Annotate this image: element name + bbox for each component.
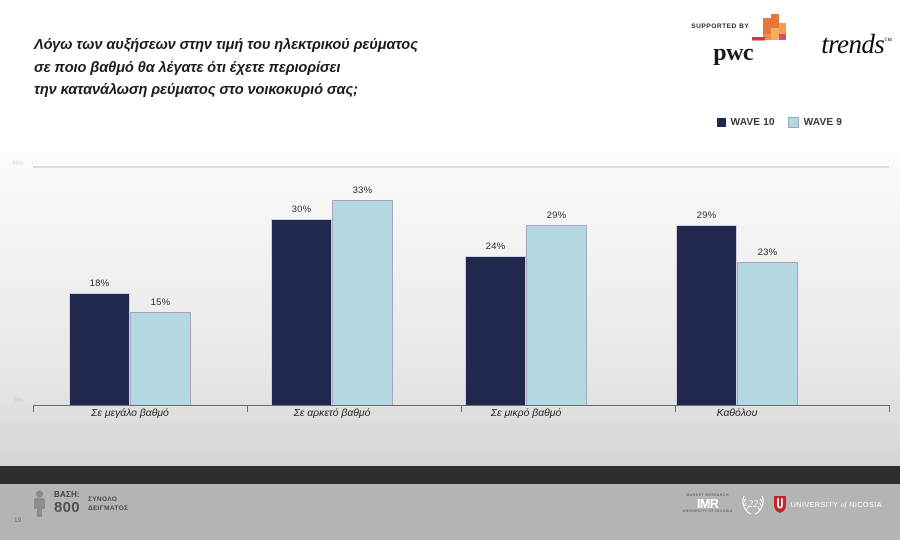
bar-column: 18% <box>69 157 130 405</box>
chart-legend: WAVE 10 WAVE 9 <box>717 117 842 128</box>
university-of-word: of <box>841 501 847 509</box>
bar-wave-10[interactable] <box>271 219 332 405</box>
svg-text:22: 22 <box>748 499 758 510</box>
base-text: ΒΑΣΗ: 800 ΣΥΝΟΛΟ ΔΕΙΓΜΑΤΟΣ <box>54 491 128 515</box>
university-of-nicosia-logo: UNIVERSITY of NICOSIA <box>774 496 882 513</box>
pwc-mark-icon <box>747 14 791 46</box>
chart-plot-area: 40% 0% 18%15%Σε μεγάλο βαθμό30%33%Σε αρκ… <box>0 152 900 466</box>
bar-column: 24% <box>465 157 526 405</box>
bar-group: 29%23%Καθόλου <box>676 157 798 405</box>
base-left: ΒΑΣΗ: 800 <box>54 491 80 515</box>
legend-item-wave-10[interactable]: WAVE 10 <box>717 117 775 128</box>
university-word: UNIVERSITY <box>790 500 838 509</box>
category-label: Σε μεγάλο βαθμό <box>69 408 191 419</box>
x-axis-tick <box>247 405 248 412</box>
y-axis-tick-zero: 0% <box>14 398 23 404</box>
bar-value-label: 18% <box>69 278 130 289</box>
base-value: 800 <box>54 500 80 516</box>
header-band: Λόγω των αυξήσεων στην τιμή του ηλεκτρικ… <box>0 0 900 152</box>
bar-groups: 18%15%Σε μεγάλο βαθμό30%33%Σε αρκετό βαθ… <box>33 157 889 405</box>
bar-wave-10[interactable] <box>69 293 130 405</box>
page-title: Λόγω των αυξήσεων στην τιμή του ηλεκτρικ… <box>34 34 634 102</box>
y-axis-tick-top: 40% <box>12 161 24 167</box>
page-number: 19 <box>14 517 21 524</box>
bar-column: 29% <box>526 157 587 405</box>
bar-column: 15% <box>130 157 191 405</box>
imr-bottom-text: UNIVERSITY OF NICOSIA <box>683 510 733 514</box>
trends-tm: ™ <box>884 36 892 45</box>
university-name: UNIVERSITY of NICOSIA <box>790 500 882 509</box>
bar-value-label: 29% <box>526 210 587 221</box>
person-icon <box>32 490 47 517</box>
brand-bar: SUPPORTED BY pwc trends™ <box>691 10 892 66</box>
title-line-1: Λόγω των αυξήσεων στην τιμή του ηλεκτρικ… <box>34 34 634 57</box>
bar-group: 30%33%Σε αρκετό βαθμό <box>271 157 393 405</box>
legend-swatch-wave-9 <box>788 117 799 128</box>
legend-swatch-wave-10 <box>717 118 726 127</box>
trends-text: trends <box>821 29 884 59</box>
title-line-3: την κατανάλωση ρεύματος στο νοικοκυριό σ… <box>34 79 634 102</box>
bar-group: 18%15%Σε μεγάλο βαθμό <box>69 157 191 405</box>
footer-logos: MARKET RESEARCH IMR UNIVERSITY OF NICOSI… <box>683 492 882 516</box>
bar-pair: 18%15% <box>69 157 191 405</box>
bar-column: 33% <box>332 157 393 405</box>
imr-logo: MARKET RESEARCH IMR UNIVERSITY OF NICOSI… <box>683 494 733 514</box>
supported-by-label: SUPPORTED BY <box>691 23 749 30</box>
bar-pair: 30%33% <box>271 157 393 405</box>
trends-wordmark: trends™ <box>821 29 892 60</box>
bar-wave-9[interactable] <box>130 312 191 405</box>
university-place-word: NICOSIA <box>849 500 882 509</box>
base-description-line-1: ΣΥΝΟΛΟ <box>88 495 128 505</box>
bar-value-label: 24% <box>465 241 526 252</box>
bar-group: 24%29%Σε μικρό βαθμό <box>465 157 587 405</box>
anniversary-badge-icon: 22 <box>739 492 767 516</box>
bar-wave-10[interactable] <box>676 225 737 405</box>
legend-label-wave-9: WAVE 9 <box>804 117 842 128</box>
bar-value-label: 29% <box>676 210 737 221</box>
x-axis-tick <box>33 405 34 412</box>
shield-icon <box>774 496 786 513</box>
bar-column: 23% <box>737 157 798 405</box>
bar-value-label: 23% <box>737 247 798 258</box>
bar-pair: 29%23% <box>676 157 798 405</box>
category-label: Καθόλου <box>676 408 798 419</box>
bar-column: 30% <box>271 157 332 405</box>
bar-wave-10[interactable] <box>465 256 526 405</box>
legend-item-wave-9[interactable]: WAVE 9 <box>788 117 842 128</box>
category-label: Σε μικρό βαθμό <box>465 408 587 419</box>
bar-column: 29% <box>676 157 737 405</box>
x-axis-tick <box>889 405 890 412</box>
category-label: Σε αρκετό βαθμό <box>271 408 393 419</box>
base-info: ΒΑΣΗ: 800 ΣΥΝΟΛΟ ΔΕΙΓΜΑΤΟΣ <box>32 490 128 517</box>
pwc-logo: SUPPORTED BY pwc <box>691 14 799 66</box>
bar-value-label: 30% <box>271 204 332 215</box>
pwc-wordmark: pwc <box>713 40 753 67</box>
legend-label-wave-10: WAVE 10 <box>731 117 775 128</box>
bar-wave-9[interactable] <box>332 200 393 405</box>
base-description-line-2: ΔΕΙΓΜΑΤΟΣ <box>88 504 128 514</box>
bar-pair: 24%29% <box>465 157 587 405</box>
title-line-2: σε ποιο βαθμό θα λέγατε ότι έχετε περιορ… <box>34 57 634 80</box>
bar-wave-9[interactable] <box>526 225 587 405</box>
slide-root: Λόγω των αυξήσεων στην τιμή του ηλεκτρικ… <box>0 0 900 540</box>
footer-dark-strip <box>0 466 900 484</box>
base-description: ΣΥΝΟΛΟ ΔΕΙΓΜΑΤΟΣ <box>88 495 128 514</box>
x-axis-tick <box>461 405 462 412</box>
bar-wave-9[interactable] <box>737 262 798 405</box>
bar-value-label: 15% <box>130 297 191 308</box>
bar-value-label: 33% <box>332 185 393 196</box>
